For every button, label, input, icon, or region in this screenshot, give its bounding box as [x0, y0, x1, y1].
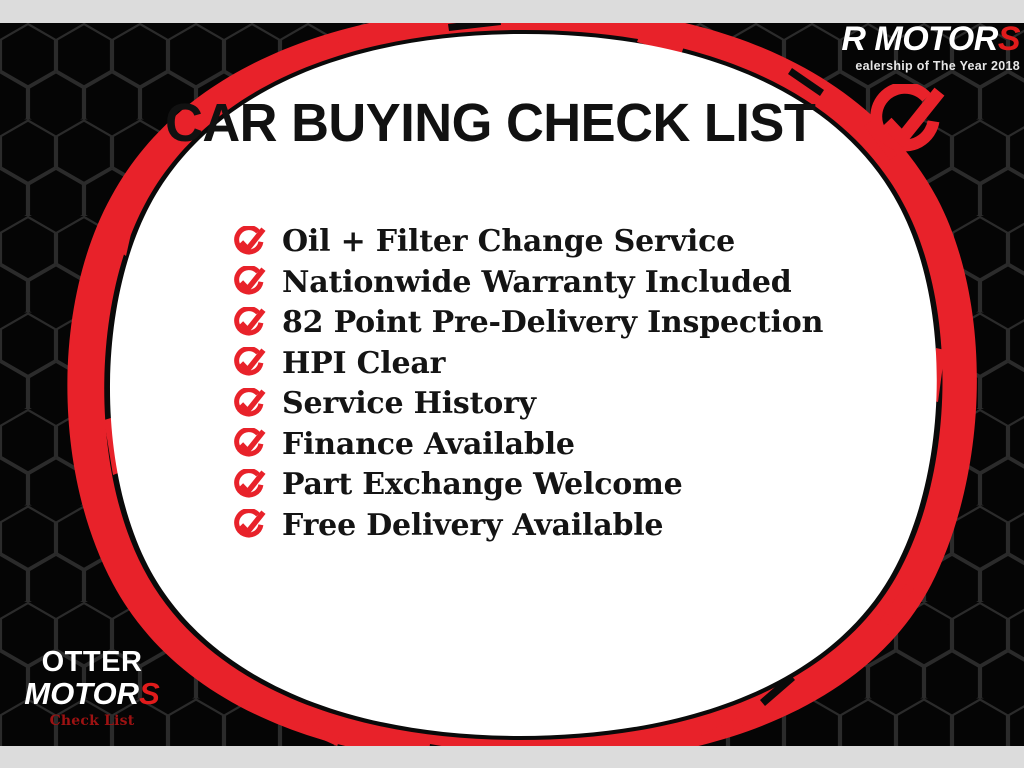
dealer-logo-line2-accent: S [139, 676, 160, 711]
circle-check-icon [230, 469, 266, 502]
list-item[interactable]: Finance Available [230, 425, 823, 466]
circle-check-icon [230, 509, 266, 542]
list-item-label: Free Delivery Available [282, 511, 663, 541]
checklist: Oil + Filter Change Service Nationwide W… [230, 222, 823, 546]
watermark-logo: R MOTORS ealership of The Year 2018 [790, 22, 1020, 73]
dealer-logo-line2: MOTORS [22, 678, 162, 711]
dealer-logo-line2-main: MOTOR [24, 676, 139, 711]
circle-check-icon [230, 428, 266, 461]
slide-canvas: CAR BUYING CHECK LIST Oil + Filter Chang… [0, 0, 1024, 768]
list-item[interactable]: Service History [230, 384, 823, 425]
circle-check-icon [230, 266, 266, 299]
list-item-label: Part Exchange Welcome [282, 470, 683, 500]
letterbox-top [0, 0, 1024, 23]
dealer-logo-line1: OTTER [22, 648, 162, 678]
list-item-label: Finance Available [282, 430, 575, 460]
page-title-text: CAR BUYING CHECK LIST [165, 96, 815, 150]
list-item-label: Oil + Filter Change Service [282, 227, 735, 257]
list-item[interactable]: HPI Clear [230, 344, 823, 385]
circle-check-icon [230, 347, 266, 380]
page-title: CAR BUYING CHECK LIST [165, 84, 946, 162]
list-item-label: 82 Point Pre-Delivery Inspection [282, 308, 823, 338]
list-item[interactable]: 82 Point Pre-Delivery Inspection [230, 303, 823, 344]
watermark-subtitle: ealership of The Year 2018 [790, 59, 1020, 73]
list-item[interactable]: Free Delivery Available [230, 506, 823, 547]
dealer-logo[interactable]: OTTER MOTORS Check List [22, 648, 162, 729]
list-item[interactable]: Nationwide Warranty Included [230, 263, 823, 304]
circle-check-icon [230, 388, 266, 421]
circle-check-icon [230, 307, 266, 340]
circle-check-icon [860, 84, 946, 162]
circle-check-icon [230, 226, 266, 259]
watermark-main-prefix: R MOTOR [841, 22, 997, 58]
list-item-label: Service History [282, 389, 536, 419]
list-item-label: HPI Clear [282, 349, 445, 379]
list-item[interactable]: Part Exchange Welcome [230, 465, 823, 506]
letterbox-bottom [0, 746, 1024, 768]
list-item[interactable]: Oil + Filter Change Service [230, 222, 823, 263]
watermark-main: R MOTORS [790, 22, 1020, 58]
watermark-main-accent: S [998, 22, 1020, 58]
dealer-logo-subtitle: Check List [22, 713, 162, 729]
list-item-label: Nationwide Warranty Included [282, 268, 792, 298]
